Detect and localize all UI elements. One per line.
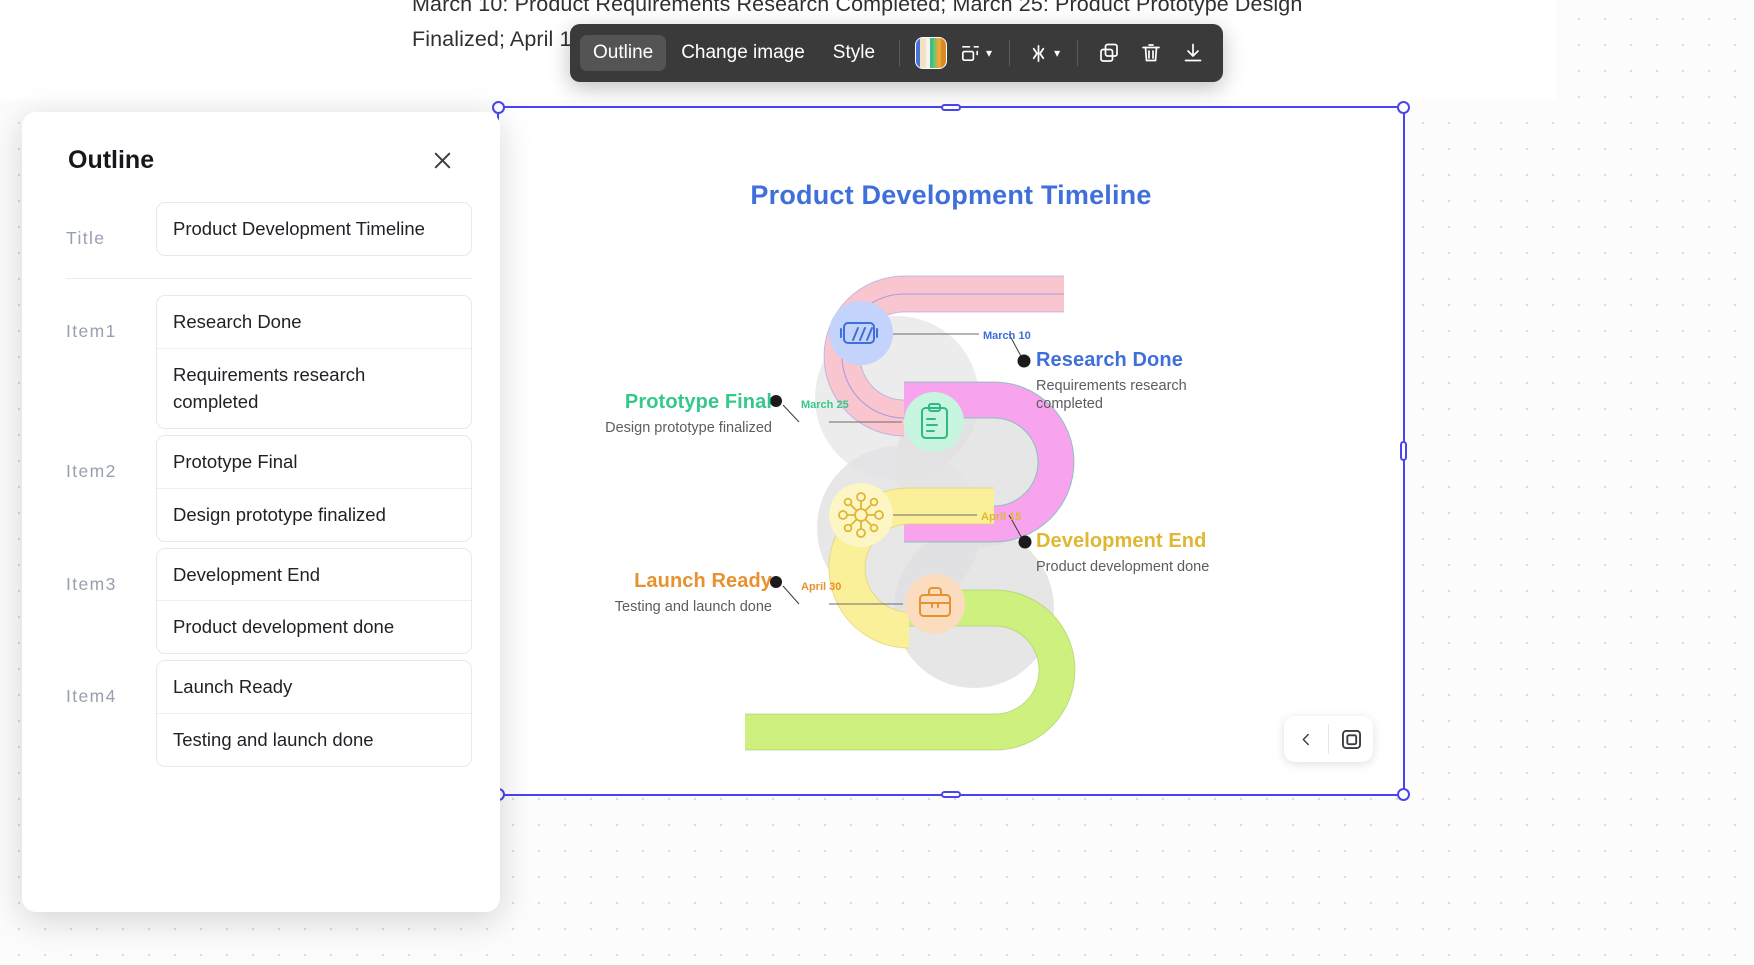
resize-handle-top-center[interactable] <box>941 104 961 111</box>
resize-handle-bottom-right[interactable] <box>1397 788 1410 801</box>
download-icon[interactable] <box>1173 33 1213 73</box>
svg-text:March 10: March 10 <box>983 330 1031 342</box>
resize-handle-bottom-center[interactable] <box>941 791 961 798</box>
outline-item-label-3: Item3 <box>66 548 142 595</box>
resize-handle-top-left[interactable] <box>492 101 505 114</box>
outline-item-label-1: Item1 <box>66 295 142 342</box>
milestone-detail-4: Testing and launch done <box>522 598 772 616</box>
resize-handle-top-right[interactable] <box>1397 101 1410 114</box>
image-toolbar: Outline Change image Style ▾ ▾ <box>570 24 1223 82</box>
close-icon[interactable] <box>426 144 458 176</box>
milestone-label-4: Launch Ready Testing and launch done <box>522 569 772 616</box>
outline-item-detail-input-1[interactable]: Requirements research completed <box>157 348 471 429</box>
outline-item-label-2: Item2 <box>66 435 142 482</box>
outline-header: Outline <box>22 112 500 176</box>
outline-item-detail-input-2[interactable]: Design prototype finalized <box>157 488 471 541</box>
outline-panel-title: Outline <box>68 146 154 175</box>
toolbar-divider-2 <box>1009 40 1010 66</box>
layout-frame-icon[interactable]: ▾ <box>953 33 998 73</box>
outline-item-label-4: Item4 <box>66 660 142 707</box>
trash-icon[interactable] <box>1131 33 1171 73</box>
outline-item-heading-input-2[interactable]: Prototype Final <box>157 436 471 488</box>
outline-title-box[interactable]: Product Development Timeline <box>156 202 472 256</box>
outline-item-box-3[interactable]: Development End Product development done <box>156 548 472 655</box>
milestone-label-3: Development End Product development done <box>1036 529 1236 576</box>
outline-item-box-1[interactable]: Research Done Requirements research comp… <box>156 295 472 429</box>
outline-item-row-2: Item2 Prototype Final Design prototype f… <box>66 435 472 542</box>
expand-window-icon[interactable] <box>1329 716 1373 762</box>
milestone-detail-2: Design prototype finalized <box>522 419 772 437</box>
document-paragraph-line-1: March 10: Product Requirements Research … <box>412 0 1302 17</box>
milestone-label-2: Prototype Final Design prototype finaliz… <box>522 390 772 437</box>
image-pager <box>1284 716 1373 762</box>
copy-icon[interactable] <box>1089 33 1129 73</box>
outline-item-heading-input-3[interactable]: Development End <box>157 549 471 601</box>
toolbar-change-image-button[interactable]: Change image <box>668 35 818 72</box>
outline-panel: Outline Title Product Development Timeli… <box>22 112 500 912</box>
milestone-label-1: Research Done Requirements research comp… <box>1036 348 1236 413</box>
outline-title-label: Title <box>66 202 142 249</box>
outline-item-box-4[interactable]: Launch Ready Testing and launch done <box>156 660 472 767</box>
outline-item-row-3: Item3 Development End Product developmen… <box>66 548 472 655</box>
milestone-heading-3: Development End <box>1036 529 1236 554</box>
milestone-heading-2: Prototype Final <box>522 390 772 415</box>
outline-item-row-1: Item1 Research Done Requirements researc… <box>66 295 472 429</box>
outline-divider <box>66 278 472 279</box>
app-root: March 10: Product Requirements Research … <box>0 0 1754 965</box>
milestone-detail-3: Product development done <box>1036 558 1236 576</box>
toolbar-outline-button[interactable]: Outline <box>580 35 666 72</box>
toolbar-divider <box>899 40 900 66</box>
svg-text:April 30: April 30 <box>801 581 841 593</box>
toolbar-divider-3 <box>1077 40 1078 66</box>
milestone-detail-1: Requirements research completed <box>1036 377 1236 413</box>
svg-text:March 25: March 25 <box>801 399 849 411</box>
outline-item-detail-input-3[interactable]: Product development done <box>157 600 471 653</box>
toolbar-style-button[interactable]: Style <box>820 35 888 72</box>
selected-image-frame[interactable]: Product Development Timeline <box>497 106 1405 796</box>
svg-text:April 15: April 15 <box>981 511 1021 523</box>
resize-handle-right-center[interactable] <box>1400 441 1407 461</box>
outline-title-input[interactable]: Product Development Timeline <box>157 203 471 255</box>
chevron-left-icon[interactable] <box>1284 716 1328 762</box>
align-horizontal-center-icon[interactable]: ▾ <box>1021 33 1066 73</box>
outline-item-heading-input-1[interactable]: Research Done <box>157 296 471 348</box>
outline-item-detail-input-4[interactable]: Testing and launch done <box>157 713 471 766</box>
outline-item-box-2[interactable]: Prototype Final Design prototype finaliz… <box>156 435 472 542</box>
outline-body: Title Product Development Timeline Item1… <box>22 176 500 767</box>
outline-item-heading-input-4[interactable]: Launch Ready <box>157 661 471 713</box>
milestone-heading-1: Research Done <box>1036 348 1236 373</box>
outline-item-row-4: Item4 Launch Ready Testing and launch do… <box>66 660 472 767</box>
outline-title-row: Title Product Development Timeline <box>66 202 472 256</box>
milestone-heading-4: Launch Ready <box>522 569 772 594</box>
timeline-infographic: March 10 March 25 <box>499 108 1407 798</box>
color-palette-swatch[interactable] <box>911 33 951 73</box>
